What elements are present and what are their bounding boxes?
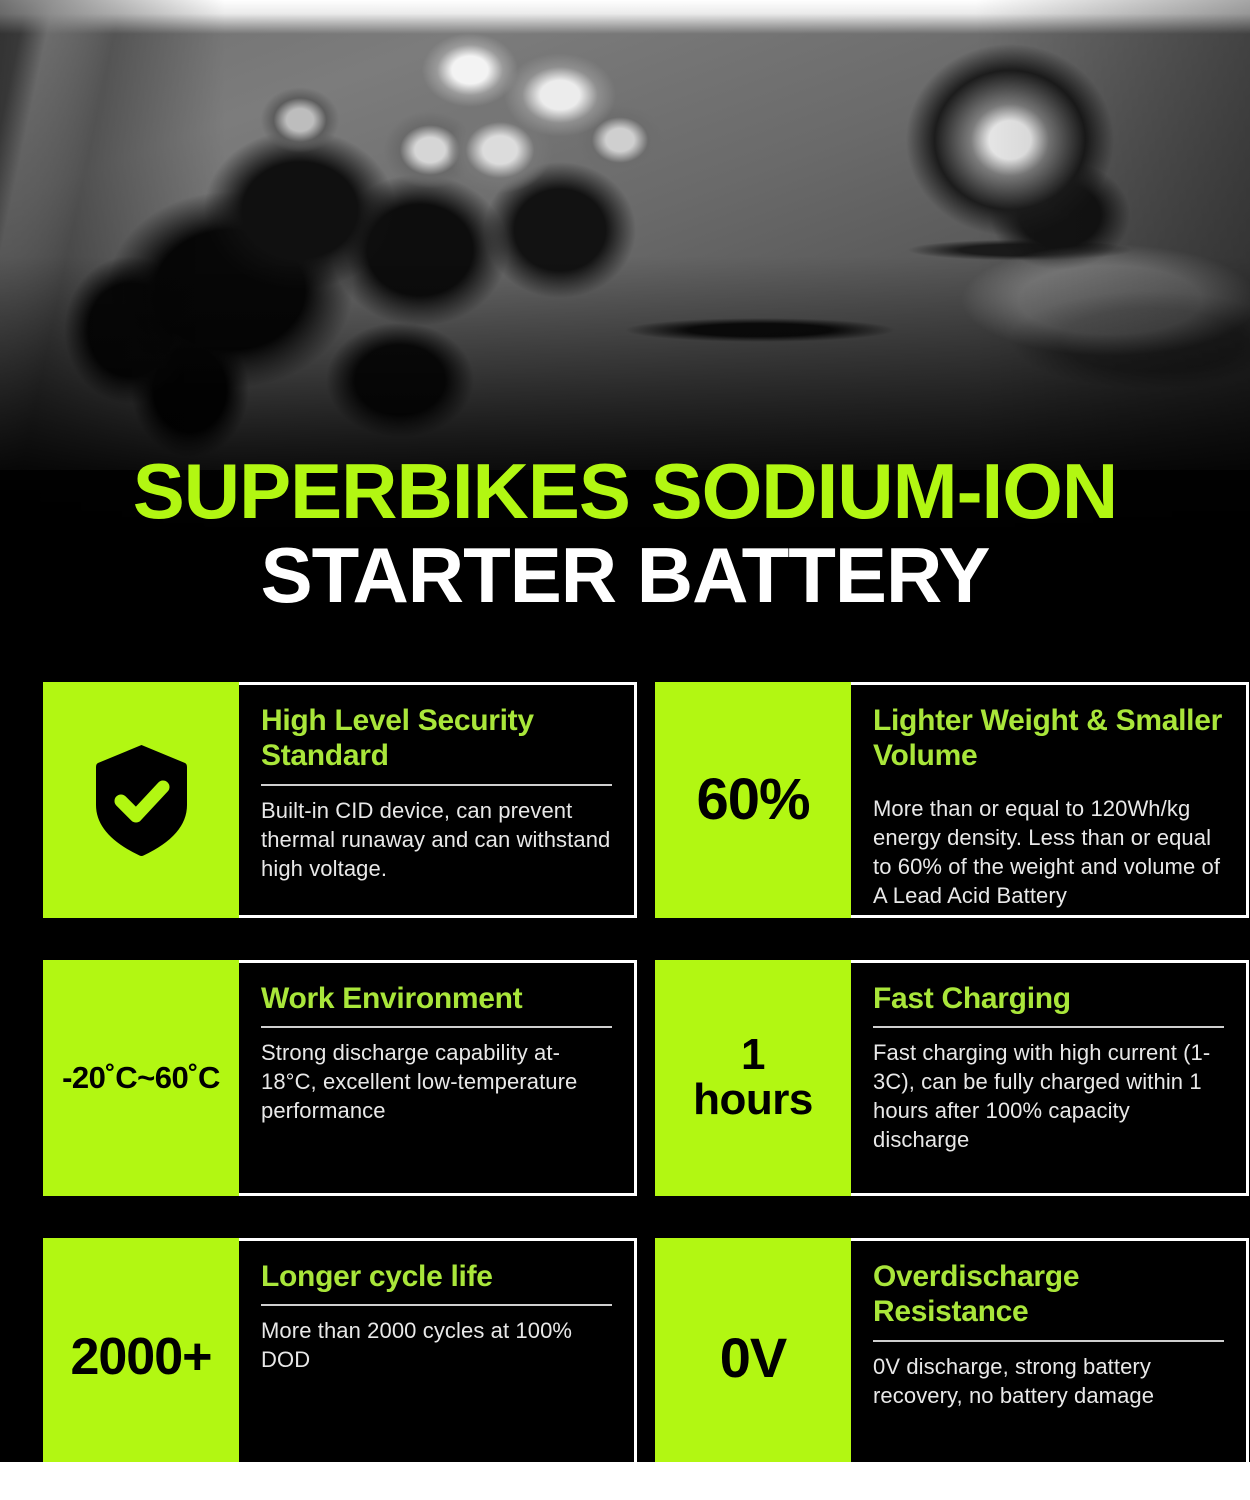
card-body-lighter-weight: Lighter Weight & Smaller Volume More tha… bbox=[851, 682, 1249, 918]
card-description-lighter-weight: More than or equal to 120Wh/kg energy de… bbox=[873, 794, 1224, 910]
card-body-work-environment: Work Environment Strong discharge capabi… bbox=[239, 960, 637, 1196]
title-line-primary: SUPERBIKES SODIUM-ION bbox=[0, 452, 1250, 530]
shield-check-icon bbox=[94, 743, 189, 858]
card-title-cycle-life: Longer cycle life bbox=[261, 1259, 612, 1294]
title-line-secondary: STARTER BATTERY bbox=[0, 530, 1250, 620]
feature-card-overdischarge: 0V Overdischarge Resistance 0V discharge… bbox=[655, 1238, 1249, 1478]
feature-card-grid: High Level Security Standard Built-in CI… bbox=[43, 682, 1207, 1478]
feature-card-lighter-weight: 60% Lighter Weight & Smaller Volume More… bbox=[655, 682, 1249, 918]
card-description-overdischarge: 0V discharge, strong battery recovery, n… bbox=[873, 1352, 1224, 1410]
card-body-fast-charging: Fast Charging Fast charging with high cu… bbox=[851, 960, 1249, 1196]
card-description-cycle-life: More than 2000 cycles at 100% DOD bbox=[261, 1316, 612, 1374]
card-title-fast-charging: Fast Charging bbox=[873, 981, 1224, 1016]
card-description-fast-charging: Fast charging with high current (1-3C), … bbox=[873, 1038, 1224, 1154]
badge-cycle-life: 2000+ bbox=[43, 1238, 239, 1478]
badge-work-environment: -20˚C~60˚C bbox=[43, 960, 239, 1196]
hero-section: SUPERBIKES SODIUM-ION STARTER BATTERY bbox=[0, 0, 1250, 640]
card-description-work-environment: Strong discharge capability at-18°C, exc… bbox=[261, 1038, 612, 1125]
feature-card-cycle-life: 2000+ Longer cycle life More than 2000 c… bbox=[43, 1238, 637, 1478]
card-divider bbox=[873, 1026, 1224, 1028]
badge-value-one-hour: 1 hours bbox=[693, 1033, 813, 1123]
feature-card-fast-charging: 1 hours Fast Charging Fast charging with… bbox=[655, 960, 1249, 1196]
badge-security bbox=[43, 682, 239, 918]
card-divider bbox=[261, 784, 612, 786]
card-divider bbox=[873, 1340, 1224, 1342]
card-body-security: High Level Security Standard Built-in CI… bbox=[239, 682, 637, 918]
bottom-white-strip bbox=[0, 1462, 1250, 1500]
feature-card-security: High Level Security Standard Built-in CI… bbox=[43, 682, 637, 918]
badge-overdischarge: 0V bbox=[655, 1238, 851, 1478]
badge-lighter-weight: 60% bbox=[655, 682, 851, 918]
card-title-overdischarge: Overdischarge Resistance bbox=[873, 1259, 1224, 1330]
product-feature-poster: SUPERBIKES SODIUM-ION STARTER BATTERY Hi… bbox=[0, 0, 1250, 1500]
badge-value-zero-volt: 0V bbox=[720, 1329, 787, 1386]
poster-title: SUPERBIKES SODIUM-ION STARTER BATTERY bbox=[0, 452, 1250, 620]
badge-value-temperature-range: -20˚C~60˚C bbox=[62, 1062, 220, 1094]
badge-value-60-percent: 60% bbox=[696, 770, 809, 829]
card-description-security: Built-in CID device, can prevent thermal… bbox=[261, 796, 612, 883]
feature-card-work-environment: -20˚C~60˚C Work Environment Strong disch… bbox=[43, 960, 637, 1196]
badge-fast-charging: 1 hours bbox=[655, 960, 851, 1196]
badge-value-2000-plus: 2000+ bbox=[70, 1331, 211, 1384]
card-divider bbox=[261, 1026, 612, 1028]
card-title-security: High Level Security Standard bbox=[261, 703, 612, 774]
card-title-work-environment: Work Environment bbox=[261, 981, 612, 1016]
card-divider bbox=[261, 1304, 612, 1306]
card-title-lighter-weight: Lighter Weight & Smaller Volume bbox=[873, 703, 1224, 774]
card-body-cycle-life: Longer cycle life More than 2000 cycles … bbox=[239, 1238, 637, 1478]
card-body-overdischarge: Overdischarge Resistance 0V discharge, s… bbox=[851, 1238, 1249, 1478]
